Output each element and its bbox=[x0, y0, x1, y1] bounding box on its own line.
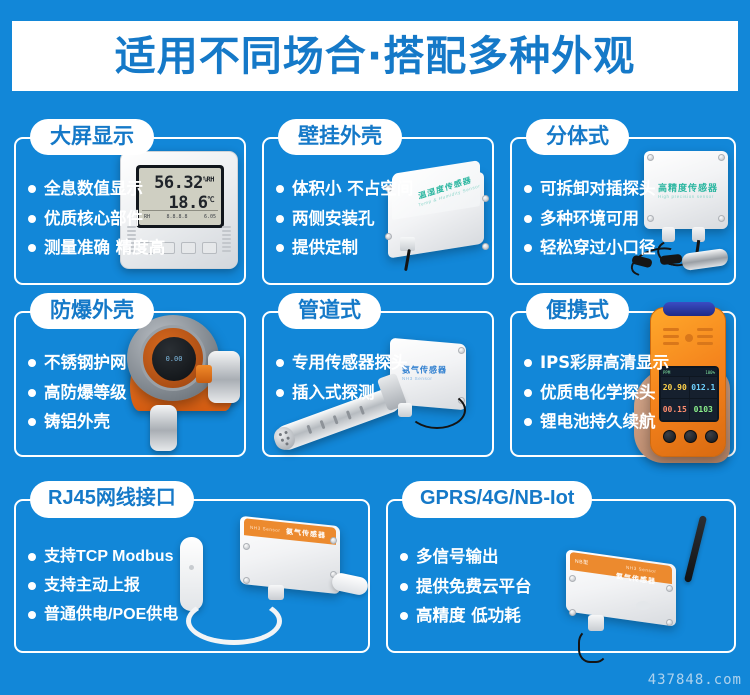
screw-icon bbox=[243, 543, 250, 550]
list-item: 可拆卸对插探头 bbox=[524, 181, 656, 198]
list-item: 普通供电/POE供电 bbox=[28, 607, 178, 623]
header-band: 适用不同场合·搭配多种外观 bbox=[12, 21, 738, 91]
bullet-dot-icon bbox=[28, 359, 36, 367]
bullet-dot-icon bbox=[276, 185, 284, 193]
cable-gland-icon bbox=[268, 585, 284, 600]
bullet-dot-icon bbox=[28, 215, 36, 223]
bullet-dot-icon bbox=[276, 359, 284, 367]
screw-icon bbox=[647, 154, 654, 161]
bullet-dot-icon bbox=[28, 611, 36, 619]
bullet-dot-icon bbox=[524, 389, 532, 397]
antenna-icon bbox=[684, 515, 707, 583]
screw-icon bbox=[482, 195, 489, 202]
card-rj45-interface[interactable]: RJ45网线接口 支持TCP Modbus 支持主动上报 普通供电/POE供电 … bbox=[14, 499, 370, 653]
lcd-mid-label: 8.8.8.8 bbox=[166, 214, 187, 220]
list-item: 测量准确 精度高 bbox=[28, 240, 165, 257]
device-rj45-network-sensor: 氨气传感器 NH3 Sensor bbox=[164, 515, 372, 657]
card-explosion-proof[interactable]: 防爆外壳 不锈钢护网 高防爆等级 铸铝外壳 0.00 bbox=[14, 311, 246, 457]
bullet-dot-icon bbox=[400, 583, 408, 591]
list-item: 锂电池持久续航 bbox=[524, 414, 669, 431]
list-item: 轻松穿过小口径 bbox=[524, 240, 656, 257]
stainless-probe-right-icon bbox=[208, 351, 240, 403]
bullet-list-wireless-interface: 多信号输出 提供免费云平台 高精度 低功耗 bbox=[400, 549, 532, 638]
detector-display-value: 0.00 bbox=[166, 355, 183, 363]
card-title-wall-mount: 壁挂外壳 bbox=[278, 119, 402, 155]
screw-icon bbox=[569, 575, 576, 582]
card-title-portable-type: 便携式 bbox=[526, 293, 629, 329]
cable-icon bbox=[578, 629, 608, 663]
bullet-list-split-type: 可拆卸对插探头 多种环境可用 轻松穿过小口径 bbox=[524, 181, 656, 270]
card-split-type[interactable]: 分体式 可拆卸对插探头 多种环境可用 轻松穿过小口径 高精度传感器 High p… bbox=[510, 137, 736, 285]
cable-icon bbox=[408, 391, 466, 429]
card-title-wireless-interface: GPRS/4G/NB-Iot bbox=[402, 481, 592, 518]
list-item: 优质核心部件 bbox=[28, 211, 165, 228]
list-item: 支持主动上报 bbox=[28, 578, 178, 594]
bullet-dot-icon bbox=[524, 185, 532, 193]
bullet-dot-icon bbox=[28, 418, 36, 426]
device-label-en: High precision sensor bbox=[658, 194, 714, 199]
bullet-list-duct-type: 专用传感器探头 插入式探测 bbox=[276, 355, 408, 414]
list-item: 多种环境可用 bbox=[524, 211, 656, 228]
list-item: IPS彩屏高清显示 bbox=[524, 355, 669, 372]
list-item: 插入式探测 bbox=[276, 385, 408, 402]
list-item: 提供定制 bbox=[276, 240, 413, 257]
menu-button[interactable] bbox=[684, 430, 697, 443]
card-title-duct-type: 管道式 bbox=[278, 293, 381, 329]
speaker-grill-icon bbox=[663, 326, 715, 352]
watermark: 437848.com bbox=[648, 672, 742, 688]
device-button bbox=[181, 242, 196, 254]
screen-value-cell: 012.1 bbox=[690, 377, 718, 398]
list-item: 两侧安装孔 bbox=[276, 211, 413, 228]
screen-status-bar: PPM 100% bbox=[661, 368, 717, 376]
indicator-icon bbox=[636, 601, 650, 610]
bullet-dot-icon bbox=[400, 553, 408, 561]
device-button bbox=[202, 242, 217, 254]
bullet-dot-icon bbox=[524, 359, 532, 367]
bullet-dot-icon bbox=[276, 244, 284, 252]
rj45-probe-icon bbox=[180, 537, 203, 611]
card-title-rj45-interface: RJ45网线接口 bbox=[30, 481, 194, 518]
list-item: 铸铝外壳 bbox=[28, 414, 127, 431]
bullet-list-portable-type: IPS彩屏高清显示 优质电化学探头 锂电池持久续航 bbox=[524, 355, 669, 444]
bullet-list-large-display: 全息数值显示 优质核心部件 测量准确 精度高 bbox=[28, 181, 165, 270]
bullet-dot-icon bbox=[524, 244, 532, 252]
bullet-list-rj45-interface: 支持TCP Modbus 支持主动上报 普通供电/POE供电 bbox=[28, 549, 178, 636]
card-portable-type[interactable]: 便携式 IPS彩屏高清显示 优质电化学探头 锂电池持久续航 PPM 100 bbox=[510, 311, 736, 457]
list-item: 优质电化学探头 bbox=[524, 385, 669, 402]
bullet-dot-icon bbox=[28, 185, 36, 193]
screw-icon bbox=[330, 537, 337, 544]
list-item: 高防爆等级 bbox=[28, 385, 127, 402]
bullet-dot-icon bbox=[28, 553, 36, 561]
screw-icon bbox=[666, 585, 673, 592]
bullet-dot-icon bbox=[524, 215, 532, 223]
screw-icon bbox=[482, 243, 489, 250]
list-item: 全息数值显示 bbox=[28, 181, 165, 198]
enclosure-body: 高精度传感器 High precision sensor bbox=[644, 151, 728, 229]
stainless-probe-bottom-icon bbox=[150, 405, 177, 451]
card-large-display[interactable]: 大屏显示 全息数值显示 优质核心部件 测量准确 精度高 56.32%RH 18.… bbox=[14, 137, 246, 285]
list-item: 专用传感器探头 bbox=[276, 355, 408, 372]
device-label-cn: 氨气传感器 bbox=[402, 365, 447, 376]
device-label-en: NH3 Sensor bbox=[250, 525, 281, 533]
list-item: 不锈钢护网 bbox=[28, 355, 127, 372]
card-title-split-type: 分体式 bbox=[526, 119, 629, 155]
poster-root: 适用不同场合·搭配多种外观 大屏显示 全息数值显示 优质核心部件 测量准确 精度… bbox=[0, 0, 750, 695]
screw-icon bbox=[458, 347, 465, 354]
bullet-dot-icon bbox=[276, 215, 284, 223]
device-wireless-gateway-sensor: NB型 NH3 Sensor 氨气传感器 bbox=[544, 519, 734, 655]
confirm-button[interactable] bbox=[705, 430, 718, 443]
bullet-dot-icon bbox=[28, 244, 36, 252]
card-wireless-interface[interactable]: GPRS/4G/NB-Iot 多信号输出 提供免费云平台 高精度 低功耗 NB型… bbox=[386, 499, 736, 653]
page-title: 适用不同场合·搭配多种外观 bbox=[115, 36, 636, 77]
card-wall-mount[interactable]: 壁挂外壳 体积小 不占空间 两侧安装孔 提供定制 温湿度传感器 Temp & H… bbox=[262, 137, 494, 285]
vent-right-icon bbox=[222, 226, 231, 254]
list-item: 支持TCP Modbus bbox=[28, 549, 178, 565]
probe-dot-icon bbox=[189, 565, 194, 570]
bullet-dot-icon bbox=[524, 418, 532, 426]
screw-icon bbox=[718, 154, 725, 161]
probe-mount-icon bbox=[196, 365, 212, 383]
device-label-cn: 氨气传感器 bbox=[286, 527, 326, 541]
card-duct-type[interactable]: 管道式 专用传感器探头 插入式探测 氨气传感器 NH3 Sensor bbox=[262, 311, 494, 457]
detector-button-row[interactable] bbox=[663, 430, 718, 443]
network-cable-icon bbox=[186, 597, 282, 645]
screw-icon bbox=[666, 619, 673, 626]
list-item: 多信号输出 bbox=[400, 549, 532, 566]
screw-icon bbox=[243, 577, 250, 584]
device-label-model: NB型 bbox=[575, 558, 589, 567]
screen-value-cell: 0103 bbox=[690, 399, 718, 420]
bullet-dot-icon bbox=[276, 389, 284, 397]
lcd-right-label: 6.05 bbox=[204, 214, 216, 220]
bullet-dot-icon bbox=[400, 612, 408, 620]
bullet-dot-icon bbox=[28, 389, 36, 397]
card-title-large-display: 大屏显示 bbox=[30, 119, 154, 155]
bullet-list-explosion-proof: 不锈钢护网 高防爆等级 铸铝外壳 bbox=[28, 355, 127, 444]
alarm-lamp-icon bbox=[663, 302, 715, 316]
card-title-explosion-proof: 防爆外壳 bbox=[30, 293, 154, 329]
screw-icon bbox=[718, 215, 725, 222]
list-item: 提供免费云平台 bbox=[400, 579, 532, 596]
bullet-dot-icon bbox=[28, 582, 36, 590]
device-label-cn: 高精度传感器 bbox=[658, 181, 718, 194]
screen-battery-label: 100% bbox=[705, 370, 715, 375]
screw-icon bbox=[569, 609, 576, 616]
bullet-list-wall-mount: 体积小 不占空间 两侧安装孔 提供定制 bbox=[276, 181, 413, 270]
probe-cap-icon bbox=[271, 424, 298, 452]
list-item: 体积小 不占空间 bbox=[276, 181, 413, 198]
list-item: 高精度 低功耗 bbox=[400, 608, 532, 625]
detector-window: 0.00 bbox=[152, 337, 196, 381]
